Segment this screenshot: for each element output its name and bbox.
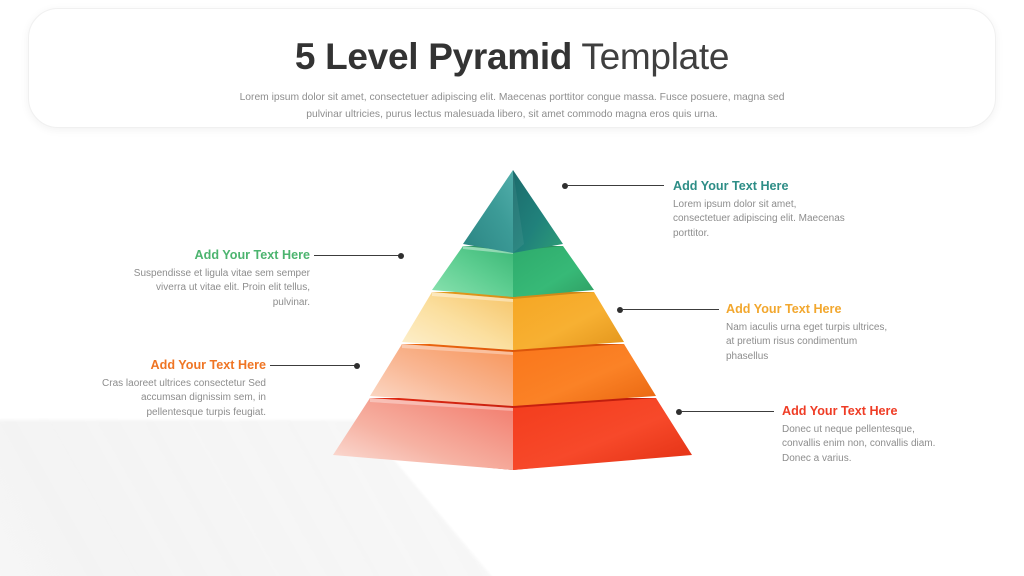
pyramid-level-2[interactable] [432, 246, 594, 297]
callout-4[interactable]: Add Your Text Here Cras laoreet ultrices… [83, 357, 266, 420]
connector-1-line [567, 185, 664, 186]
level-1-left-face [463, 170, 513, 253]
callout-5-body: Donec ut neque pellentesque, convallis e… [782, 423, 952, 466]
callout-5[interactable]: Add Your Text Here Donec ut neque pellen… [782, 403, 952, 466]
connector-3 [617, 305, 719, 314]
connector-1 [562, 181, 664, 190]
level-2-left-face [432, 246, 513, 297]
callout-2-body: Suspendisse et ligula vitae sem semper v… [130, 267, 310, 310]
level-4-right-face [513, 344, 656, 406]
callout-4-heading: Add Your Text Here [83, 357, 266, 374]
level-2-right-face [513, 246, 594, 297]
pyramid-level-5[interactable] [333, 398, 692, 470]
callout-3-body: Nam iaculis urna eget turpis ultrices, a… [726, 321, 898, 364]
pyramid-level-1[interactable] [463, 170, 563, 253]
callout-2-heading: Add Your Text Here [130, 247, 310, 264]
callout-2[interactable]: Add Your Text Here Suspendisse et ligula… [130, 247, 310, 310]
connector-2 [314, 251, 404, 260]
callout-4-body: Cras laoreet ultrices consectetur Sed ac… [83, 377, 266, 420]
connector-4 [270, 361, 360, 370]
callout-3[interactable]: Add Your Text Here Nam iaculis urna eget… [726, 301, 898, 364]
connector-2-line [314, 255, 399, 256]
connector-2-dot [398, 253, 404, 259]
connector-4-line [270, 365, 355, 366]
callout-1-heading: Add Your Text Here [673, 178, 848, 195]
connector-5-line [681, 411, 774, 412]
connector-5 [676, 407, 774, 416]
level-5-right-face [513, 398, 692, 470]
connector-3-line [622, 309, 719, 310]
callout-1-body: Lorem ipsum dolor sit amet, consectetuer… [673, 198, 848, 241]
connector-4-dot [354, 363, 360, 369]
callout-3-heading: Add Your Text Here [726, 301, 898, 318]
pyramid-level-3[interactable] [402, 292, 624, 350]
callout-1[interactable]: Add Your Text Here Lorem ipsum dolor sit… [673, 178, 848, 241]
level-3-right-face [513, 292, 624, 350]
slide-canvas: 5 Level Pyramid Template Lorem ipsum dol… [0, 0, 1024, 576]
pyramid-level-4[interactable] [370, 344, 656, 406]
callout-5-heading: Add Your Text Here [782, 403, 952, 420]
